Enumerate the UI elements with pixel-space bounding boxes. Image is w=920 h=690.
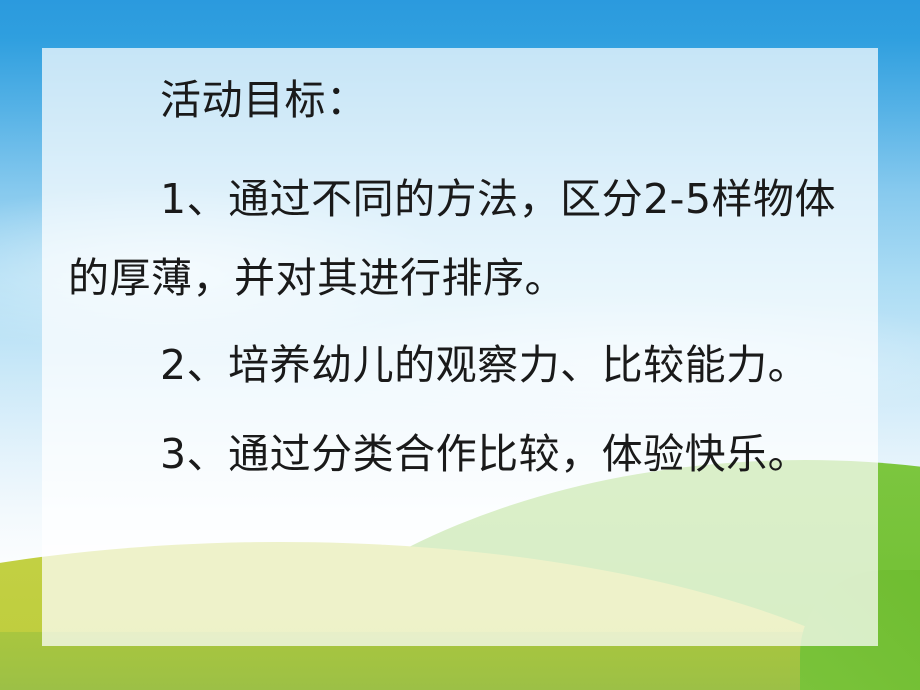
- objective-1-line-2: 的厚薄，并对其进行排序。: [68, 258, 852, 299]
- objective-3-line-1: 3、通过分类合作比较，体验快乐。: [160, 434, 852, 475]
- content-panel: 活动目标： 1、通过不同的方法，区分2-5样物体 的厚薄，并对其进行排序。 2、…: [42, 48, 878, 646]
- objective-1-line-1: 1、通过不同的方法，区分2-5样物体: [160, 179, 852, 220]
- slide-canvas: 活动目标： 1、通过不同的方法，区分2-5样物体 的厚薄，并对其进行排序。 2、…: [0, 0, 920, 690]
- objective-2-line-1: 2、培养幼儿的观察力、比较能力。: [160, 345, 852, 386]
- page-title: 活动目标：: [160, 80, 852, 121]
